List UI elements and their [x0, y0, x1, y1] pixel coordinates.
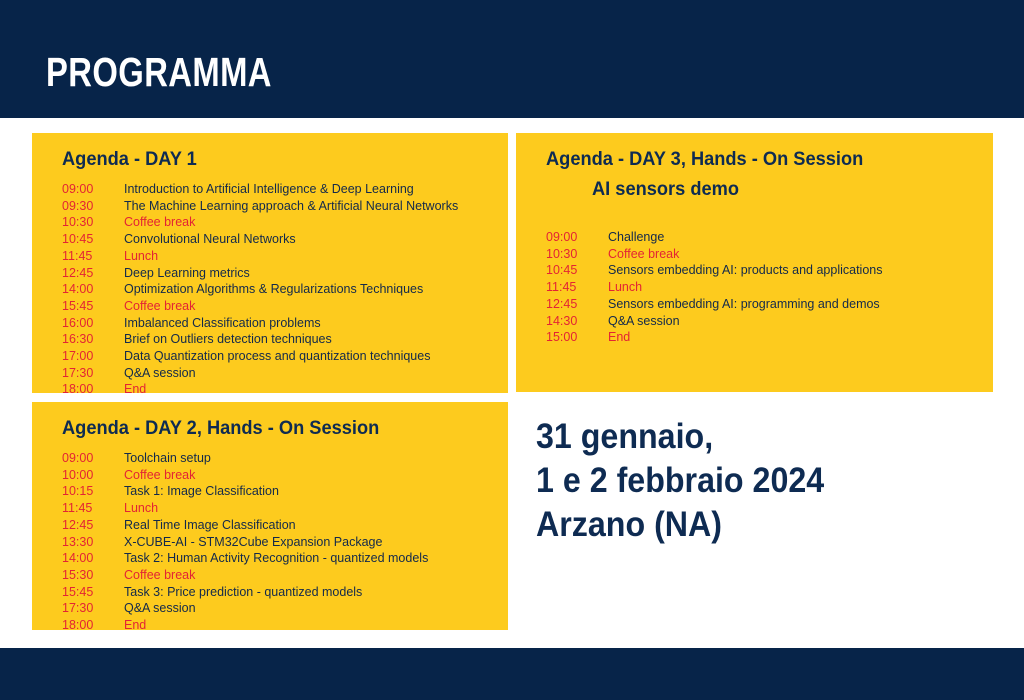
agenda-row: 15:45Task 3: Price prediction - quantize… — [50, 584, 490, 601]
agenda-row-time: 15:30 — [62, 567, 124, 584]
agenda-row-text: Q&A session — [608, 313, 680, 330]
agenda-row-time: 09:00 — [62, 181, 124, 198]
agenda-row-time: 17:30 — [62, 365, 124, 382]
agenda-row-text: End — [608, 329, 630, 346]
agenda-card-day3-subtitle: AI sensors demo — [592, 177, 960, 203]
agenda-row-text: Coffee break — [608, 246, 679, 263]
agenda-card-day1-rows: 09:00Introduction to Artificial Intellig… — [50, 181, 490, 398]
agenda-card-day3-rows: 09:00Challenge10:30Coffee break10:45Sens… — [534, 229, 975, 346]
agenda-row-time: 10:45 — [62, 231, 124, 248]
agenda-row-time: 10:30 — [546, 246, 608, 263]
agenda-row: 10:00Coffee break — [50, 467, 490, 484]
agenda-row: 14:00Optimization Algorithms & Regulariz… — [50, 281, 490, 298]
agenda-row-time: 09:00 — [546, 229, 608, 246]
agenda-row-text: End — [124, 617, 146, 634]
agenda-row: 09:30The Machine Learning approach & Art… — [50, 198, 490, 215]
agenda-row-text: Introduction to Artificial Intelligence … — [124, 181, 414, 198]
agenda-row-text: Toolchain setup — [124, 450, 211, 467]
event-date-line: 31 gennaio, — [536, 415, 824, 459]
agenda-row: 17:00Data Quantization process and quant… — [50, 348, 490, 365]
agenda-row: 10:45Sensors embedding AI: products and … — [534, 262, 975, 279]
agenda-row-time: 15:45 — [62, 298, 124, 315]
agenda-row: 15:30Coffee break — [50, 567, 490, 584]
agenda-row-text: Optimization Algorithms & Regularization… — [124, 281, 423, 298]
agenda-row-text: Data Quantization process and quantizati… — [124, 348, 430, 365]
agenda-row-text: End — [124, 381, 146, 398]
agenda-card-day1-title: Agenda - DAY 1 — [62, 147, 473, 173]
agenda-row: 16:30Brief on Outliers detection techniq… — [50, 331, 490, 348]
agenda-row-time: 16:30 — [62, 331, 124, 348]
agenda-row-text: Convolutional Neural Networks — [124, 231, 296, 248]
event-date-line: Arzano (NA) — [536, 503, 824, 547]
event-date-line: 1 e 2 febbraio 2024 — [536, 459, 824, 503]
agenda-row-time: 11:45 — [62, 248, 124, 265]
agenda-row: 15:00End — [534, 329, 975, 346]
agenda-row-time: 13:30 — [62, 534, 124, 551]
agenda-row-text: Task 3: Price prediction - quantized mod… — [124, 584, 362, 601]
agenda-row-text: Coffee break — [124, 567, 195, 584]
agenda-row: 09:00Introduction to Artificial Intellig… — [50, 181, 490, 198]
agenda-card-day1: Agenda - DAY 1 09:00Introduction to Arti… — [32, 133, 508, 393]
agenda-row-text: The Machine Learning approach & Artifici… — [124, 198, 458, 215]
agenda-row: 12:45Deep Learning metrics — [50, 265, 490, 282]
agenda-row: 09:00Toolchain setup — [50, 450, 490, 467]
agenda-row-text: Real Time Image Classification — [124, 517, 296, 534]
agenda-row-text: Deep Learning metrics — [124, 265, 250, 282]
agenda-row-time: 09:30 — [62, 198, 124, 215]
agenda-row: 14:30Q&A session — [534, 313, 975, 330]
agenda-row-text: Coffee break — [124, 214, 195, 231]
agenda-row-text: Task 2: Human Activity Recognition - qua… — [124, 550, 428, 567]
agenda-row-text: X-CUBE-AI - STM32Cube Expansion Package — [124, 534, 382, 551]
agenda-card-day3-title: Agenda - DAY 3, Hands - On Session — [546, 147, 958, 173]
agenda-row-text: Coffee break — [124, 298, 195, 315]
agenda-row-time: 12:45 — [62, 517, 124, 534]
agenda-row-text: Imbalanced Classification problems — [124, 315, 321, 332]
agenda-row-time: 14:00 — [62, 550, 124, 567]
agenda-row: 10:30Coffee break — [534, 246, 975, 263]
agenda-row: 18:00End — [50, 617, 490, 634]
agenda-row-text: Q&A session — [124, 600, 196, 617]
agenda-row: 10:45Convolutional Neural Networks — [50, 231, 490, 248]
agenda-row-time: 10:30 — [62, 214, 124, 231]
agenda-row-text: Q&A session — [124, 365, 196, 382]
agenda-row-time: 15:00 — [546, 329, 608, 346]
agenda-row-time: 14:00 — [62, 281, 124, 298]
agenda-row: 12:45Real Time Image Classification — [50, 517, 490, 534]
agenda-row-text: Sensors embedding AI: programming and de… — [608, 296, 880, 313]
agenda-card-day2: Agenda - DAY 2, Hands - On Session 09:00… — [32, 402, 508, 630]
agenda-row-text: Sensors embedding AI: products and appli… — [608, 262, 882, 279]
agenda-row-time: 15:45 — [62, 584, 124, 601]
agenda-row-text: Lunch — [124, 500, 158, 517]
agenda-row-time: 10:15 — [62, 483, 124, 500]
agenda-row-time: 12:45 — [62, 265, 124, 282]
agenda-row: 16:00Imbalanced Classification problems — [50, 315, 490, 332]
event-date-location: 31 gennaio,1 e 2 febbraio 2024Arzano (NA… — [536, 415, 824, 547]
agenda-row-text: Lunch — [608, 279, 642, 296]
agenda-row: 11:45Lunch — [50, 248, 490, 265]
agenda-row-time: 11:45 — [546, 279, 608, 296]
agenda-row-text: Coffee break — [124, 467, 195, 484]
agenda-card-day2-rows: 09:00Toolchain setup10:00Coffee break10:… — [50, 450, 490, 634]
agenda-row: 12:45Sensors embedding AI: programming a… — [534, 296, 975, 313]
agenda-row-time: 17:30 — [62, 600, 124, 617]
agenda-row: 17:30Q&A session — [50, 365, 490, 382]
agenda-row-time: 17:00 — [62, 348, 124, 365]
agenda-row-time: 12:45 — [546, 296, 608, 313]
agenda-row: 18:00End — [50, 381, 490, 398]
agenda-card-day3: Agenda - DAY 3, Hands - On Session AI se… — [516, 133, 993, 392]
agenda-row: 13:30X-CUBE-AI - STM32Cube Expansion Pac… — [50, 534, 490, 551]
agenda-row: 09:00Challenge — [534, 229, 975, 246]
agenda-row-time: 18:00 — [62, 381, 124, 398]
agenda-row: 11:45Lunch — [50, 500, 490, 517]
agenda-row-text: Brief on Outliers detection techniques — [124, 331, 332, 348]
agenda-row: 10:30Coffee break — [50, 214, 490, 231]
agenda-row-time: 10:45 — [546, 262, 608, 279]
agenda-row-time: 18:00 — [62, 617, 124, 634]
agenda-row: 10:15Task 1: Image Classification — [50, 483, 490, 500]
agenda-row-time: 14:30 — [546, 313, 608, 330]
agenda-row: 14:00Task 2: Human Activity Recognition … — [50, 550, 490, 567]
page-title: PROGRAMMA — [46, 48, 272, 96]
agenda-card-day2-title: Agenda - DAY 2, Hands - On Session — [62, 416, 473, 442]
footer-band — [0, 648, 1024, 700]
agenda-row-time: 16:00 — [62, 315, 124, 332]
agenda-row-text: Challenge — [608, 229, 664, 246]
agenda-row-text: Task 1: Image Classification — [124, 483, 279, 500]
agenda-row-text: Lunch — [124, 248, 158, 265]
agenda-row: 15:45Coffee break — [50, 298, 490, 315]
agenda-row: 17:30Q&A session — [50, 600, 490, 617]
agenda-row-time: 11:45 — [62, 500, 124, 517]
agenda-row: 11:45Lunch — [534, 279, 975, 296]
agenda-row-time: 09:00 — [62, 450, 124, 467]
agenda-row-time: 10:00 — [62, 467, 124, 484]
